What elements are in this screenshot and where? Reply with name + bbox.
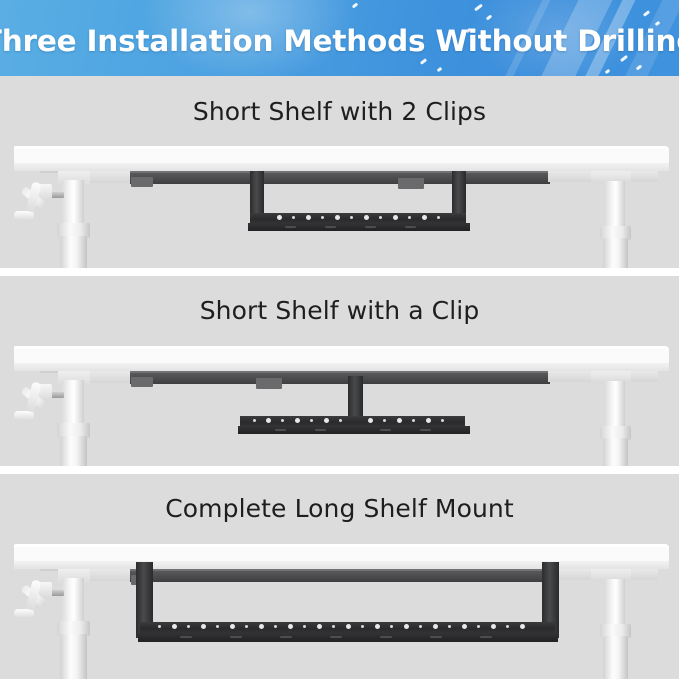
tray-base-rail-3 xyxy=(138,633,558,642)
tray-hole xyxy=(520,624,525,629)
tray-hole xyxy=(383,419,386,422)
leg-lower-right-1 xyxy=(603,238,628,268)
panel-short-shelf-1-clip: Short Shelf with a Clip xyxy=(0,276,679,466)
tray-slot xyxy=(330,636,342,638)
desk-top-edge-2 xyxy=(14,363,669,371)
panel-complete-long-shelf-mount: Complete Long Shelf Mount xyxy=(0,474,679,679)
leg-upper-left-2 xyxy=(62,380,84,428)
tray-hole xyxy=(433,624,438,629)
tray-hole xyxy=(448,625,451,628)
crank-handle-3 xyxy=(14,609,34,618)
tray-slot xyxy=(380,636,392,638)
tray-hole xyxy=(404,624,409,629)
tray-hole xyxy=(306,215,311,220)
header-banner: Three Installation Methods Without Drill… xyxy=(0,0,679,76)
tray-hole xyxy=(321,216,324,219)
leg-upper-right-2 xyxy=(605,381,625,431)
tray-hole xyxy=(245,625,248,628)
tray-hole xyxy=(361,625,364,628)
tray-hole xyxy=(216,625,219,628)
infographic-page: Three Installation Methods Without Drill… xyxy=(0,0,679,679)
tray-hole xyxy=(408,216,411,219)
tray-hole xyxy=(317,624,322,629)
tray-hole xyxy=(462,624,467,629)
tray-hole xyxy=(187,625,190,628)
tray-hole xyxy=(277,215,282,220)
tray-hole xyxy=(274,625,277,628)
tray-hole xyxy=(310,419,313,422)
tray-slot xyxy=(365,226,376,228)
leg-upper-right-1 xyxy=(605,181,625,231)
tray-slot xyxy=(275,429,286,431)
desk-frame-beam-highlight-1 xyxy=(130,171,550,173)
tray-hole xyxy=(437,216,440,219)
desk-illustration-3 xyxy=(0,474,679,679)
tray-hole xyxy=(295,418,300,423)
leg-lower-left-2 xyxy=(60,436,87,466)
leg-lower-right-2 xyxy=(603,438,628,466)
tray-hole xyxy=(350,216,353,219)
panel-short-shelf-2-clips: Short Shelf with 2 Clips xyxy=(0,76,679,268)
tray-hole xyxy=(303,625,306,628)
desk-frame-bracket-nub-1 xyxy=(398,178,424,189)
leg-upper-right-3 xyxy=(605,579,625,629)
crank-handle-1 xyxy=(14,211,34,220)
tray-hole xyxy=(368,418,373,423)
tray-hole xyxy=(339,419,342,422)
tray-hole xyxy=(292,216,295,219)
desk-frame-beam-highlight-3 xyxy=(130,569,550,571)
tray-hole xyxy=(393,215,398,220)
panel-separator-1 xyxy=(0,268,679,276)
desk-illustration-1 xyxy=(0,76,679,268)
leg-upper-left-1 xyxy=(62,180,84,228)
tray-hole xyxy=(412,419,415,422)
tray-slot xyxy=(280,636,292,638)
tray-slot xyxy=(230,636,242,638)
tray-hole xyxy=(259,624,264,629)
desk-top-surface-2 xyxy=(14,346,669,363)
tray-hole xyxy=(491,624,496,629)
tray-hole xyxy=(390,625,393,628)
tray-hole xyxy=(506,625,509,628)
leg-upper-left-3 xyxy=(62,578,84,626)
tray-slot xyxy=(380,429,391,431)
tray-slot xyxy=(430,636,442,638)
tray-hole xyxy=(288,624,293,629)
tray-hole xyxy=(201,624,206,629)
tray-hole xyxy=(419,625,422,628)
banner-title: Three Installation Methods Without Drill… xyxy=(0,0,679,76)
crank-handle-2 xyxy=(14,411,34,420)
tray-hole xyxy=(346,624,351,629)
tray-hole xyxy=(422,215,427,220)
tray-hole xyxy=(172,624,177,629)
tray-hole xyxy=(441,419,444,422)
tray-hole xyxy=(477,625,480,628)
tray-hole xyxy=(281,419,284,422)
tray-hole xyxy=(335,215,340,220)
tray-hole xyxy=(375,624,380,629)
tray-slot xyxy=(480,636,492,638)
tray-hole xyxy=(324,418,329,423)
desk-top-surface-3 xyxy=(14,544,669,561)
desk-frame-beam-highlight-2 xyxy=(130,371,550,373)
tray-hole xyxy=(364,215,369,220)
tray-hole xyxy=(158,625,161,628)
tray-hole xyxy=(230,624,235,629)
desk-frame-bracket-nub-2 xyxy=(131,377,153,387)
leg-lower-left-1 xyxy=(60,236,87,268)
tray-slot xyxy=(325,226,336,228)
desk-illustration-2 xyxy=(0,276,679,466)
desk-frame-bracket-nub-1 xyxy=(131,177,153,187)
tray-hole xyxy=(253,419,256,422)
desk-top-edge-3 xyxy=(14,561,669,569)
tray-hole xyxy=(397,418,402,423)
leg-lower-right-3 xyxy=(603,636,628,679)
tray-slot xyxy=(180,636,192,638)
tray-hole xyxy=(332,625,335,628)
tray-base-rail-1 xyxy=(248,223,470,231)
desk-frame-bracket-nub-2 xyxy=(256,378,282,389)
desk-top-edge-1 xyxy=(14,163,669,171)
tray-slot xyxy=(405,226,416,228)
tray-base-rail-2 xyxy=(238,426,470,434)
tray-slot xyxy=(420,429,431,431)
tray-slot xyxy=(285,226,296,228)
tray-slot xyxy=(315,429,326,431)
panel-separator-2 xyxy=(0,466,679,474)
tray-hole xyxy=(266,418,271,423)
tray-hole xyxy=(379,216,382,219)
desk-top-surface-1 xyxy=(14,146,669,163)
leg-lower-left-3 xyxy=(60,634,87,679)
tray-hole xyxy=(426,418,431,423)
